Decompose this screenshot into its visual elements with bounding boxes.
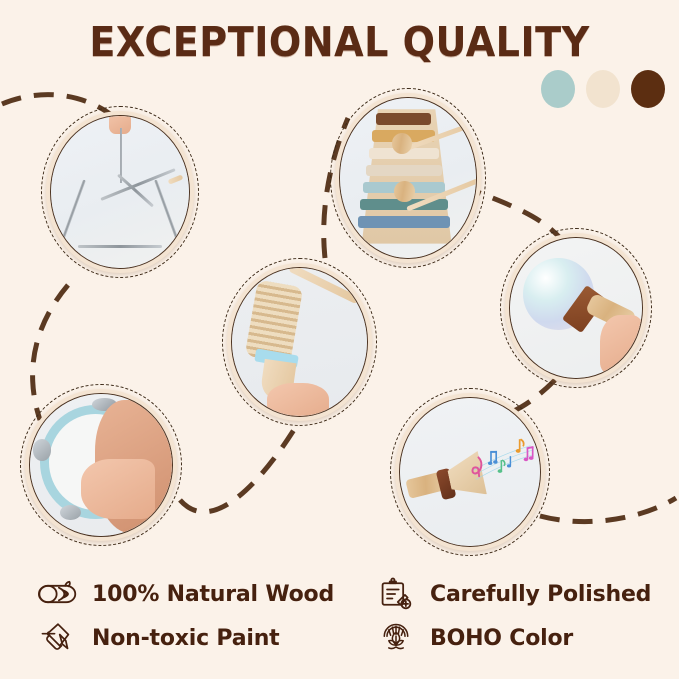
photo-bubble-maraca — [500, 228, 652, 388]
feature-item-carefully-polished: Carefully Polished — [352, 575, 679, 613]
jingle-left — [33, 439, 51, 460]
bubble-solid-ring — [50, 115, 190, 269]
photo-bubble-xylophone — [330, 88, 486, 268]
swatch-boho-blue — [541, 70, 575, 108]
music-notes-group — [464, 434, 540, 499]
swatch-boho-brown — [631, 70, 665, 108]
bubble-solid-ring — [231, 267, 368, 417]
note-magenta — [524, 447, 534, 461]
wood-log-icon — [38, 575, 78, 613]
feature-label: BOHO Color — [430, 626, 573, 651]
photo-bubble-triangle — [41, 106, 199, 278]
wooden-whistle-photo — [400, 398, 540, 546]
mallet-head-lower — [394, 181, 414, 202]
feature-label: 100% Natural Wood — [92, 582, 334, 607]
color-swatch-group — [541, 70, 665, 108]
feature-list: 100% Natural Wood Carefully Polished — [0, 572, 679, 660]
maraca-rattle-photo — [510, 238, 642, 378]
boho-emblem-icon — [376, 619, 416, 657]
product-feature-poster: EXCEPTIONAL QUALITY — [0, 0, 679, 679]
hand — [267, 383, 329, 416]
note-orange — [516, 439, 524, 453]
photo-bubble-tambourine — [20, 384, 182, 546]
beater-handle — [168, 174, 184, 184]
feature-item-boho-color: BOHO Color — [352, 619, 679, 657]
bubble-solid-ring — [339, 97, 477, 259]
jingle-bottom — [60, 505, 81, 521]
xylophone-bars — [359, 111, 454, 242]
note-green — [498, 460, 505, 473]
feature-label: Carefully Polished — [430, 582, 651, 607]
xylophone-photo — [340, 98, 476, 258]
bubble-solid-ring — [509, 237, 643, 379]
feature-item-natural-wood: 100% Natural Wood — [0, 575, 352, 613]
bubble-solid-ring — [29, 393, 173, 537]
mallet-head-upper — [392, 133, 412, 154]
clipboard-check-icon — [376, 575, 416, 613]
photo-bubble-whistle — [390, 388, 550, 556]
guiro-rhythm-stick-photo — [232, 268, 367, 416]
photo-bubble-guiro — [222, 258, 377, 426]
page-title: EXCEPTIONAL QUALITY — [24, 18, 655, 66]
paint-bucket-icon — [38, 619, 78, 657]
hand — [600, 315, 642, 374]
note-beamed-blue — [488, 450, 498, 464]
tambourine-photo — [30, 394, 172, 536]
fingers — [81, 459, 155, 519]
bubble-solid-ring — [399, 397, 541, 547]
swatch-boho-cream — [586, 70, 620, 108]
feature-label: Non-toxic Paint — [92, 626, 279, 651]
triangle-instrument-photo — [51, 116, 189, 268]
feature-item-nontoxic-paint: Non-toxic Paint — [0, 619, 352, 657]
